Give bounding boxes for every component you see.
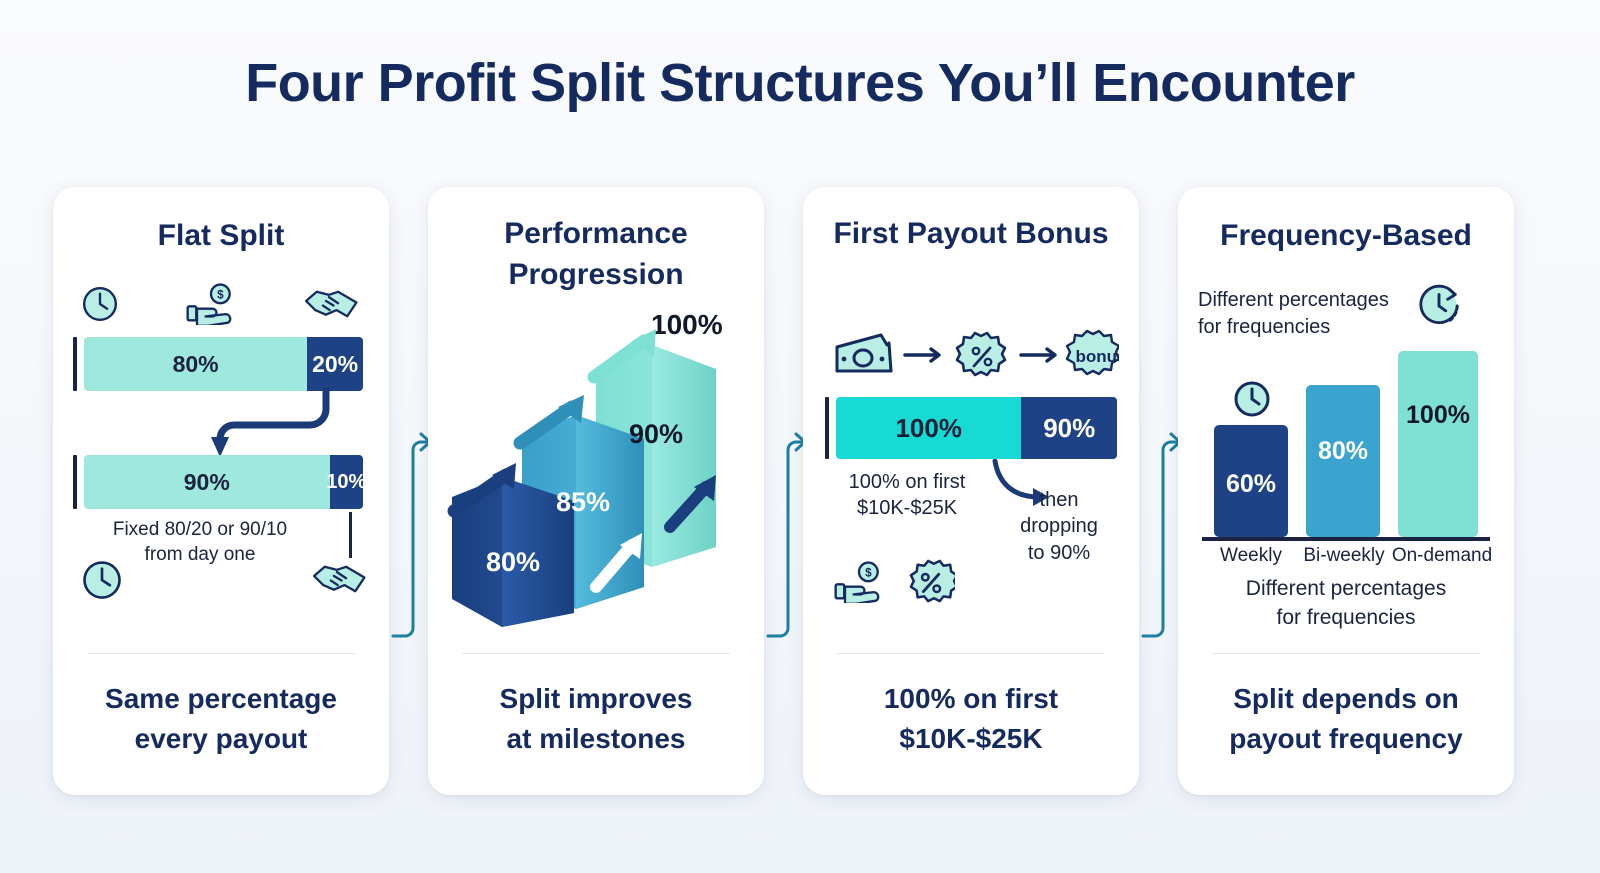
card-first-payout-bonus: First Payout Bonus bbox=[803, 187, 1139, 795]
hand-coin-icon: $ bbox=[831, 561, 887, 608]
infographic-canvas: Four Profit Split Structures You’ll Enco… bbox=[0, 0, 1600, 873]
frequency-cat-weekly: Weekly bbox=[1220, 545, 1282, 566]
card-divider bbox=[87, 653, 355, 654]
svg-text:$: $ bbox=[217, 289, 224, 302]
connector-card2-to-card3 bbox=[764, 420, 808, 640]
flat-split-tick-mark bbox=[349, 512, 352, 558]
page-title: Four Profit Split Structures You’ll Enco… bbox=[0, 52, 1600, 114]
percent-badge-icon bbox=[957, 333, 1005, 375]
frequency-top-note: Different percentages for frequencies bbox=[1198, 287, 1408, 341]
bar-segment-right: 10% bbox=[330, 455, 363, 509]
bar-segment-right: 20% bbox=[307, 337, 363, 391]
card1-icon-row: $ bbox=[81, 283, 361, 330]
svg-text:bonus: bonus bbox=[1076, 347, 1120, 366]
clock-arrow-icon bbox=[1416, 283, 1462, 334]
flat-split-bar-90-10: 90% 10% bbox=[73, 455, 363, 509]
bonus-split-bar: 100% 90% bbox=[825, 397, 1117, 459]
perf-label-1: 80% bbox=[486, 547, 540, 577]
frequency-bar-chart: 60% 80% 100% Weekly Bi-weekly On-demand bbox=[1192, 347, 1502, 567]
perf-label-2: 85% bbox=[556, 487, 610, 517]
card-flat-split: Flat Split $ bbox=[53, 187, 389, 795]
bar-axis bbox=[825, 397, 829, 459]
frequency-label-weekly: 60% bbox=[1226, 470, 1276, 498]
bonus-note-left: 100% on first $10K-$25K bbox=[827, 469, 987, 521]
bar-left-label: 80% bbox=[173, 351, 219, 378]
bar-segment-left: 90% bbox=[84, 455, 330, 509]
frequency-label-ondemand: 100% bbox=[1406, 401, 1470, 429]
frequency-cat-biweekly: Bi-weekly bbox=[1303, 545, 1385, 566]
frequency-cat-ondemand: On-demand bbox=[1392, 545, 1492, 566]
card-frequency-based: Frequency-Based Different percentages fo… bbox=[1178, 187, 1514, 795]
bar-segment-left: 100% bbox=[836, 397, 1021, 459]
perf-label-3: 90% bbox=[629, 419, 683, 449]
card-divider bbox=[1212, 653, 1480, 654]
card-caption-bonus: 100% on first $10K-$25K bbox=[821, 679, 1121, 759]
frequency-label-biweekly: 80% bbox=[1318, 437, 1368, 465]
card-performance-progression: Performance Progression 100% bbox=[428, 187, 764, 795]
flat-split-bar-80-20: 80% 20% bbox=[73, 337, 363, 391]
arrow-right-icon bbox=[1021, 349, 1055, 361]
clock-icon bbox=[81, 285, 119, 328]
bonus-badge-icon: bonus bbox=[1067, 331, 1119, 374]
bar-left-label: 100% bbox=[895, 413, 962, 444]
card-title-flat-split: Flat Split bbox=[69, 215, 373, 256]
bar-left-label: 90% bbox=[184, 469, 230, 496]
clock-icon bbox=[81, 559, 123, 606]
bar-axis bbox=[73, 455, 77, 509]
bonus-bottom-icons: $ bbox=[831, 559, 955, 610]
card-title-performance-progression: Performance Progression bbox=[444, 213, 748, 296]
bar-segment-left: 80% bbox=[84, 337, 307, 391]
percent-badge-icon bbox=[909, 559, 955, 610]
card-caption-flat-split: Same percentage every payout bbox=[71, 679, 371, 759]
bar-right-label: 90% bbox=[1043, 413, 1095, 444]
handshake-icon bbox=[303, 284, 361, 329]
connector-card1-to-card2 bbox=[389, 420, 433, 640]
bonus-icon-flow: bonus bbox=[829, 329, 1119, 383]
bar-right-label: 10% bbox=[326, 471, 363, 494]
performance-progression-chart: 80% 85% 90% bbox=[444, 297, 748, 627]
frequency-bar-ondemand bbox=[1398, 351, 1478, 537]
handshake-icon bbox=[311, 559, 369, 604]
bonus-note-right: then dropping to 90% bbox=[999, 487, 1119, 566]
banknote-icon bbox=[837, 335, 891, 371]
card-divider bbox=[837, 653, 1105, 654]
bar-segment-right: 90% bbox=[1021, 397, 1117, 459]
bar-axis bbox=[73, 337, 77, 391]
card-title-frequency-based: Frequency-Based bbox=[1194, 215, 1498, 256]
connector-card3-to-card4 bbox=[1139, 420, 1183, 640]
clock-icon bbox=[1236, 383, 1268, 415]
card-divider bbox=[462, 653, 730, 654]
card-caption-performance: Split improves at milestones bbox=[446, 679, 746, 759]
arrow-right-icon bbox=[905, 349, 939, 361]
svg-text:$: $ bbox=[865, 567, 872, 580]
frequency-bottom-note: Different percentages for frequencies bbox=[1194, 575, 1498, 632]
hand-coin-icon: $ bbox=[183, 283, 239, 330]
card-caption-frequency: Split depends on payout frequency bbox=[1196, 679, 1496, 759]
bar-right-label: 20% bbox=[312, 351, 358, 378]
frequency-axis-line bbox=[1202, 537, 1490, 541]
flat-split-down-arrow bbox=[208, 387, 333, 459]
card-title-first-payout-bonus: First Payout Bonus bbox=[819, 213, 1123, 254]
